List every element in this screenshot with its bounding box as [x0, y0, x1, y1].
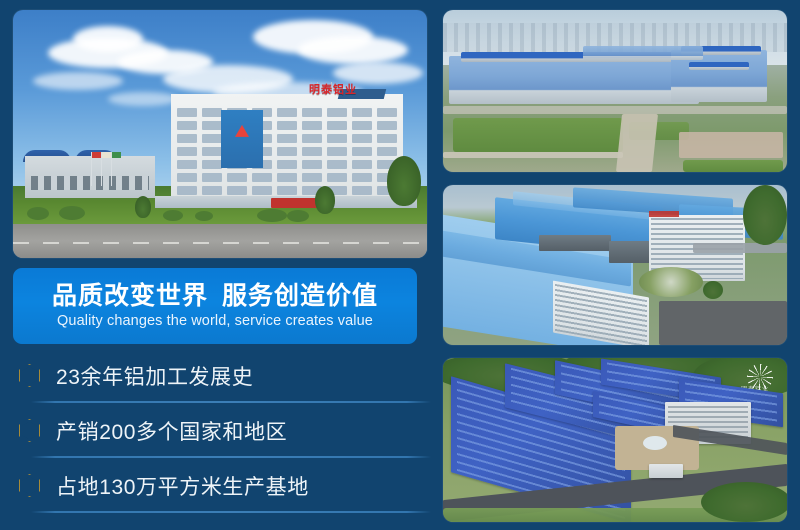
bush — [59, 206, 85, 220]
bush — [27, 207, 49, 220]
tree — [315, 186, 335, 214]
office-tower: 明泰铝业 — [171, 94, 403, 202]
utility-block — [539, 235, 611, 251]
tree-cluster — [703, 281, 723, 299]
workshop-windows — [31, 176, 149, 190]
cloud — [108, 92, 178, 106]
entrance-panel — [221, 110, 263, 168]
bush — [257, 209, 287, 222]
flag — [102, 152, 111, 158]
company-logo-icon — [235, 125, 249, 137]
flag — [92, 152, 101, 158]
slogan-part-1: 品质改变世界 — [52, 282, 208, 310]
slogan-part-2: 服务创造价值 — [222, 282, 378, 310]
promo-banner-page: 明泰铝业 — [0, 0, 800, 530]
road — [693, 243, 787, 253]
tree-cluster — [743, 185, 787, 245]
gatehouse — [649, 464, 683, 478]
road — [13, 224, 427, 258]
access-road — [616, 114, 658, 172]
rendering-photo-industrial-park[interactable]: 明泰铝业 — [443, 358, 787, 522]
window-grid — [177, 108, 397, 185]
tree — [387, 156, 421, 206]
cloud — [33, 72, 123, 90]
list-item[interactable]: 23余年铝加工发展史 — [13, 348, 427, 403]
road — [443, 152, 623, 158]
factory-hall — [583, 46, 703, 60]
roof-sign — [649, 211, 679, 217]
slogan-subtitle-en: Quality changes the world, service creat… — [57, 313, 373, 329]
green-field — [453, 118, 623, 152]
storage-yard — [679, 132, 783, 158]
parking-lot — [659, 301, 787, 345]
tree-belt — [701, 482, 787, 522]
green-field — [683, 160, 783, 172]
divider — [31, 511, 431, 513]
apron — [443, 106, 787, 114]
bush — [287, 210, 309, 222]
aerial-photo-workshops[interactable] — [443, 185, 787, 345]
fact-text: 产销200多个国家和地区 — [56, 416, 287, 446]
factory-hall-ridge — [689, 62, 749, 70]
bush — [195, 211, 213, 221]
fountain — [643, 436, 667, 450]
hexagon-bullet-icon — [19, 419, 40, 442]
tree — [135, 196, 151, 218]
cloud — [73, 26, 143, 52]
cloud — [298, 36, 408, 64]
hexagon-bullet-icon — [19, 364, 40, 387]
fact-text: 占地130万平方米生产基地 — [56, 471, 309, 501]
right-column: 明泰铝业 — [443, 10, 787, 522]
flag — [112, 152, 121, 158]
fact-text: 23余年铝加工发展史 — [56, 361, 253, 391]
bush — [163, 210, 183, 221]
factory-hall — [449, 56, 699, 104]
aerial-photo-factory-overview[interactable] — [443, 10, 787, 172]
roof-sign-text: 明泰铝业 — [309, 81, 357, 97]
slogan-headline-cn: 品质改变世界服务创造价值 — [52, 283, 378, 309]
list-item[interactable]: 产销200多个国家和地区 — [13, 403, 427, 458]
slogan-banner: 品质改变世界服务创造价值 Quality changes the world, … — [13, 268, 417, 344]
workshop-building — [25, 156, 155, 198]
hexagon-bullet-icon — [19, 474, 40, 497]
list-item[interactable]: 占地130万平方米生产基地 — [13, 458, 427, 513]
hero-photo-office-building[interactable]: 明泰铝业 — [13, 10, 427, 258]
fact-list: 23余年铝加工发展史 产销200多个国家和地区 占地130万平方米生产基地 — [13, 348, 427, 513]
left-column: 明泰铝业 — [13, 10, 427, 522]
central-plaza — [639, 267, 703, 297]
